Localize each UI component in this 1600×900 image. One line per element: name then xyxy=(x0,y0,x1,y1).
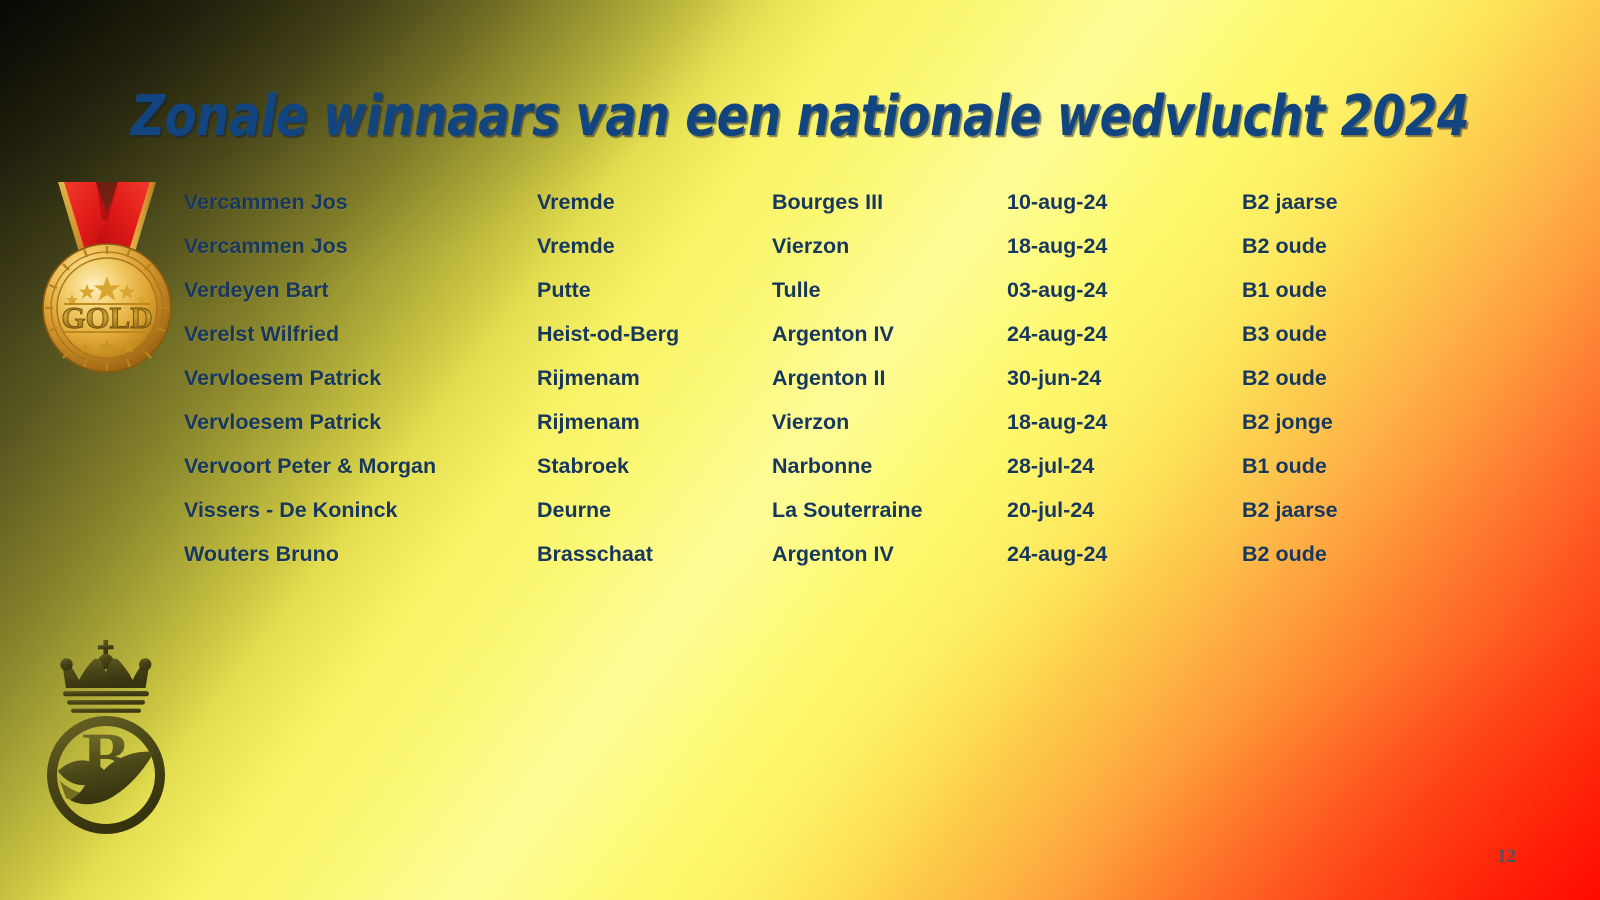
cell-club: Putte xyxy=(537,268,772,312)
cell-race: Bourges III xyxy=(772,180,1007,224)
table-row: Wouters Bruno Brasschaat Argenton IV 24-… xyxy=(184,532,1504,576)
table-row: Vervoort Peter & Morgan Stabroek Narbonn… xyxy=(184,444,1504,488)
cell-club: Stabroek xyxy=(537,444,772,488)
cell-category: B2 oude xyxy=(1242,532,1462,576)
cell-category: B2 oude xyxy=(1242,356,1462,400)
medal-label: GOLD xyxy=(61,300,152,335)
cell-date: 18-aug-24 xyxy=(1007,224,1242,268)
table-row: Verelst Wilfried Heist-od-Berg Argenton … xyxy=(184,312,1504,356)
cell-date: 20-jul-24 xyxy=(1007,488,1242,532)
gold-medal-icon: GOLD xyxy=(26,176,176,378)
cell-race: Argenton IV xyxy=(772,312,1007,356)
cell-race: Vierzon xyxy=(772,400,1007,444)
cell-club: Heist-od-Berg xyxy=(537,312,772,356)
presentation-slide: Zonale winnaars van een nationale wedvlu… xyxy=(0,0,1600,900)
cell-club: Vremde xyxy=(537,180,772,224)
table-row: Verdeyen Bart Putte Tulle 03-aug-24 B1 o… xyxy=(184,268,1504,312)
cell-race: Tulle xyxy=(772,268,1007,312)
cell-race: Vierzon xyxy=(772,224,1007,268)
cell-race: Narbonne xyxy=(772,444,1007,488)
cell-name: Vercammen Jos xyxy=(184,180,537,224)
cell-race: La Souterraine xyxy=(772,488,1007,532)
table-row: Vercammen Jos Vremde Vierzon 18-aug-24 B… xyxy=(184,224,1504,268)
cell-category: B3 oude xyxy=(1242,312,1462,356)
cell-name: Vervloesem Patrick xyxy=(184,400,537,444)
cell-club: Rijmenam xyxy=(537,356,772,400)
cell-name: Vervloesem Patrick xyxy=(184,356,537,400)
cell-date: 10-aug-24 xyxy=(1007,180,1242,224)
cell-club: Brasschaat xyxy=(537,532,772,576)
cell-date: 28-jul-24 xyxy=(1007,444,1242,488)
cell-date: 03-aug-24 xyxy=(1007,268,1242,312)
cell-name: Vervoort Peter & Morgan xyxy=(184,444,537,488)
cell-name: Verdeyen Bart xyxy=(184,268,537,312)
cell-club: Rijmenam xyxy=(537,400,772,444)
cell-club: Deurne xyxy=(537,488,772,532)
cell-date: 30-jun-24 xyxy=(1007,356,1242,400)
cell-date: 18-aug-24 xyxy=(1007,400,1242,444)
winners-table: Vercammen Jos Vremde Bourges III 10-aug-… xyxy=(184,180,1504,576)
cell-category: B2 jaarse xyxy=(1242,488,1462,532)
cell-name: Verelst Wilfried xyxy=(184,312,537,356)
slide-title: Zonale winnaars van een nationale wedvlu… xyxy=(56,84,1544,149)
cell-date: 24-aug-24 xyxy=(1007,532,1242,576)
cell-category: B2 jonge xyxy=(1242,400,1462,444)
cell-name: Wouters Bruno xyxy=(184,532,537,576)
cell-category: B2 oude xyxy=(1242,224,1462,268)
cell-race: Argenton IV xyxy=(772,532,1007,576)
cell-name: Vissers - De Koninck xyxy=(184,488,537,532)
cell-category: B1 oude xyxy=(1242,268,1462,312)
cell-name: Vercammen Jos xyxy=(184,224,537,268)
cell-date: 24-aug-24 xyxy=(1007,312,1242,356)
table-row: Vervloesem Patrick Rijmenam Vierzon 18-a… xyxy=(184,400,1504,444)
page-number: 12 xyxy=(1497,846,1516,868)
kbdb-pigeon-crown-icon: B xyxy=(30,630,182,835)
cell-category: B1 oude xyxy=(1242,444,1462,488)
table-row: Vercammen Jos Vremde Bourges III 10-aug-… xyxy=(184,180,1504,224)
cell-club: Vremde xyxy=(537,224,772,268)
table-row: Vervloesem Patrick Rijmenam Argenton II … xyxy=(184,356,1504,400)
cell-category: B2 jaarse xyxy=(1242,180,1462,224)
table-row: Vissers - De Koninck Deurne La Souterrai… xyxy=(184,488,1504,532)
cell-race: Argenton II xyxy=(772,356,1007,400)
